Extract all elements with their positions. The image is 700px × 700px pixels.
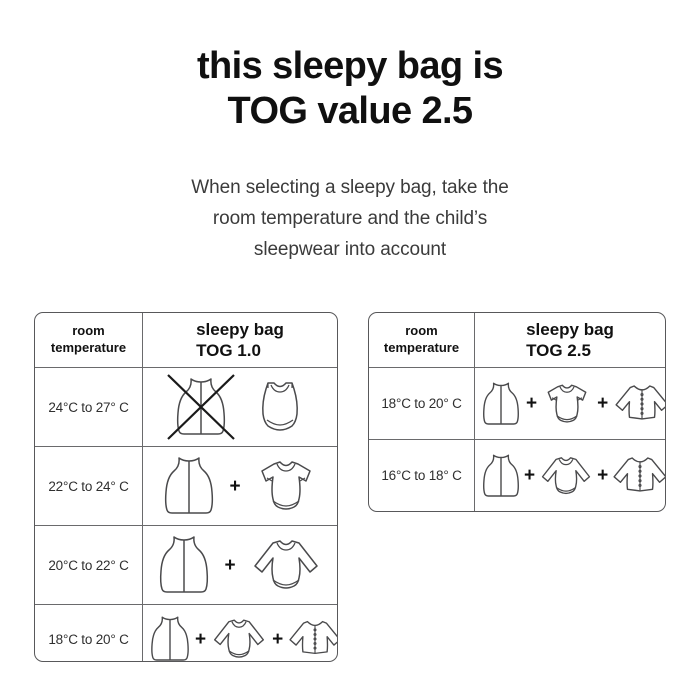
temperature-cell: 20°C to 22° C	[35, 526, 143, 604]
table-header-row: room temperature sleepy bag TOG 2.5	[369, 313, 665, 367]
temperature-label: 20°C to 22° C	[48, 558, 128, 573]
header-bag-line-2: TOG 2.5	[526, 340, 614, 361]
header-bag-line-2: TOG 1.0	[196, 340, 284, 361]
plus-separator: +	[195, 630, 206, 649]
page-title: this sleepy bag is TOG value 2.5	[0, 44, 700, 134]
cardigan-icon	[613, 379, 666, 429]
sleeping-bag-icon	[481, 378, 521, 430]
sleeping-bag-icon	[157, 533, 211, 597]
temperature-cell: 18°C to 20° C	[369, 368, 475, 439]
plus-separator: +	[272, 630, 283, 649]
garment-cell: + +	[475, 368, 666, 439]
header-cell-room-temperature: room temperature	[369, 313, 475, 367]
table-row: 20°C to 22° C +	[35, 525, 337, 604]
bodysuit-short-sleeve-icon	[542, 380, 592, 428]
header-cell-sleepy-bag: sleepy bag TOG 1.0	[143, 313, 337, 367]
temperature-cell: 16°C to 18° C	[369, 440, 475, 511]
bodysuit-long-sleeve-icon	[210, 614, 268, 662]
tog-2-5-table: room temperature sleepy bag TOG 2.5 18°C…	[368, 312, 666, 512]
sleeping-bag-icon	[149, 612, 191, 662]
table-header-row: room temperature sleepy bag TOG 1.0	[35, 313, 337, 367]
temperature-label: 16°C to 18° C	[381, 468, 461, 483]
temperature-cell: 24°C to 27° C	[35, 368, 143, 446]
table-row: 18°C to 20° C +	[369, 367, 665, 439]
temperature-cell: 18°C to 20° C	[35, 605, 143, 662]
table-row: 22°C to 24° C +	[35, 446, 337, 525]
bodysuit-short-sleeve-icon	[254, 457, 318, 515]
table-row: 18°C to 20° C +	[35, 604, 337, 662]
header-room-line-1: room	[384, 323, 459, 340]
subtitle-line-1: When selecting a sleepy bag, take the	[0, 173, 700, 204]
cardigan-icon	[287, 615, 338, 662]
subtitle-line-2: room temperature and the child’s	[0, 204, 700, 235]
page-subtitle: When selecting a sleepy bag, take the ro…	[0, 173, 700, 265]
header-cell-room-temperature: room temperature	[35, 313, 143, 367]
sleeping-bag-icon	[162, 454, 216, 518]
temperature-label: 24°C to 27° C	[48, 400, 128, 415]
plus-separator: +	[597, 394, 608, 413]
header-room-line-2: temperature	[51, 340, 126, 357]
garment-cell	[143, 368, 337, 446]
header-bag-line-1: sleepy bag	[196, 319, 284, 340]
temperature-cell: 22°C to 24° C	[35, 447, 143, 525]
title-line-1: this sleepy bag is	[0, 44, 700, 89]
garment-cell: +	[143, 447, 337, 525]
header-bag-line-1: sleepy bag	[526, 319, 614, 340]
tog-1-0-table: room temperature sleepy bag TOG 1.0 24°C…	[34, 312, 338, 662]
subtitle-line-3: sleepwear into account	[0, 235, 700, 266]
title-line-2: TOG value 2.5	[0, 89, 700, 134]
cardigan-icon	[611, 451, 666, 501]
temperature-label: 18°C to 20° C	[381, 396, 461, 411]
plus-separator: +	[229, 477, 240, 496]
garment-cell: + +	[475, 440, 666, 511]
header-cell-sleepy-bag: sleepy bag TOG 2.5	[475, 313, 665, 367]
sleeping-bag-icon	[481, 450, 521, 502]
table-row: 16°C to 18° C +	[369, 439, 665, 511]
header-room-line-1: room	[51, 323, 126, 340]
plus-separator: +	[597, 466, 608, 485]
bodysuit-long-sleeve-icon	[249, 536, 323, 594]
plus-separator: +	[526, 394, 537, 413]
temperature-label: 18°C to 20° C	[48, 632, 128, 647]
bodysuit-sleeveless-icon	[254, 378, 306, 436]
plus-separator: +	[524, 466, 535, 485]
header-room-line-2: temperature	[384, 340, 459, 357]
plus-separator: +	[224, 556, 235, 575]
infographic-page: this sleepy bag is TOG value 2.5 When se…	[0, 0, 700, 700]
table-row: 24°C to 27° C	[35, 367, 337, 446]
bodysuit-long-sleeve-icon	[538, 452, 594, 500]
temperature-label: 22°C to 24° C	[48, 479, 128, 494]
sleeping-bag-icon	[174, 375, 228, 439]
garment-cell: + +	[143, 605, 338, 662]
garment-cell: +	[143, 526, 337, 604]
